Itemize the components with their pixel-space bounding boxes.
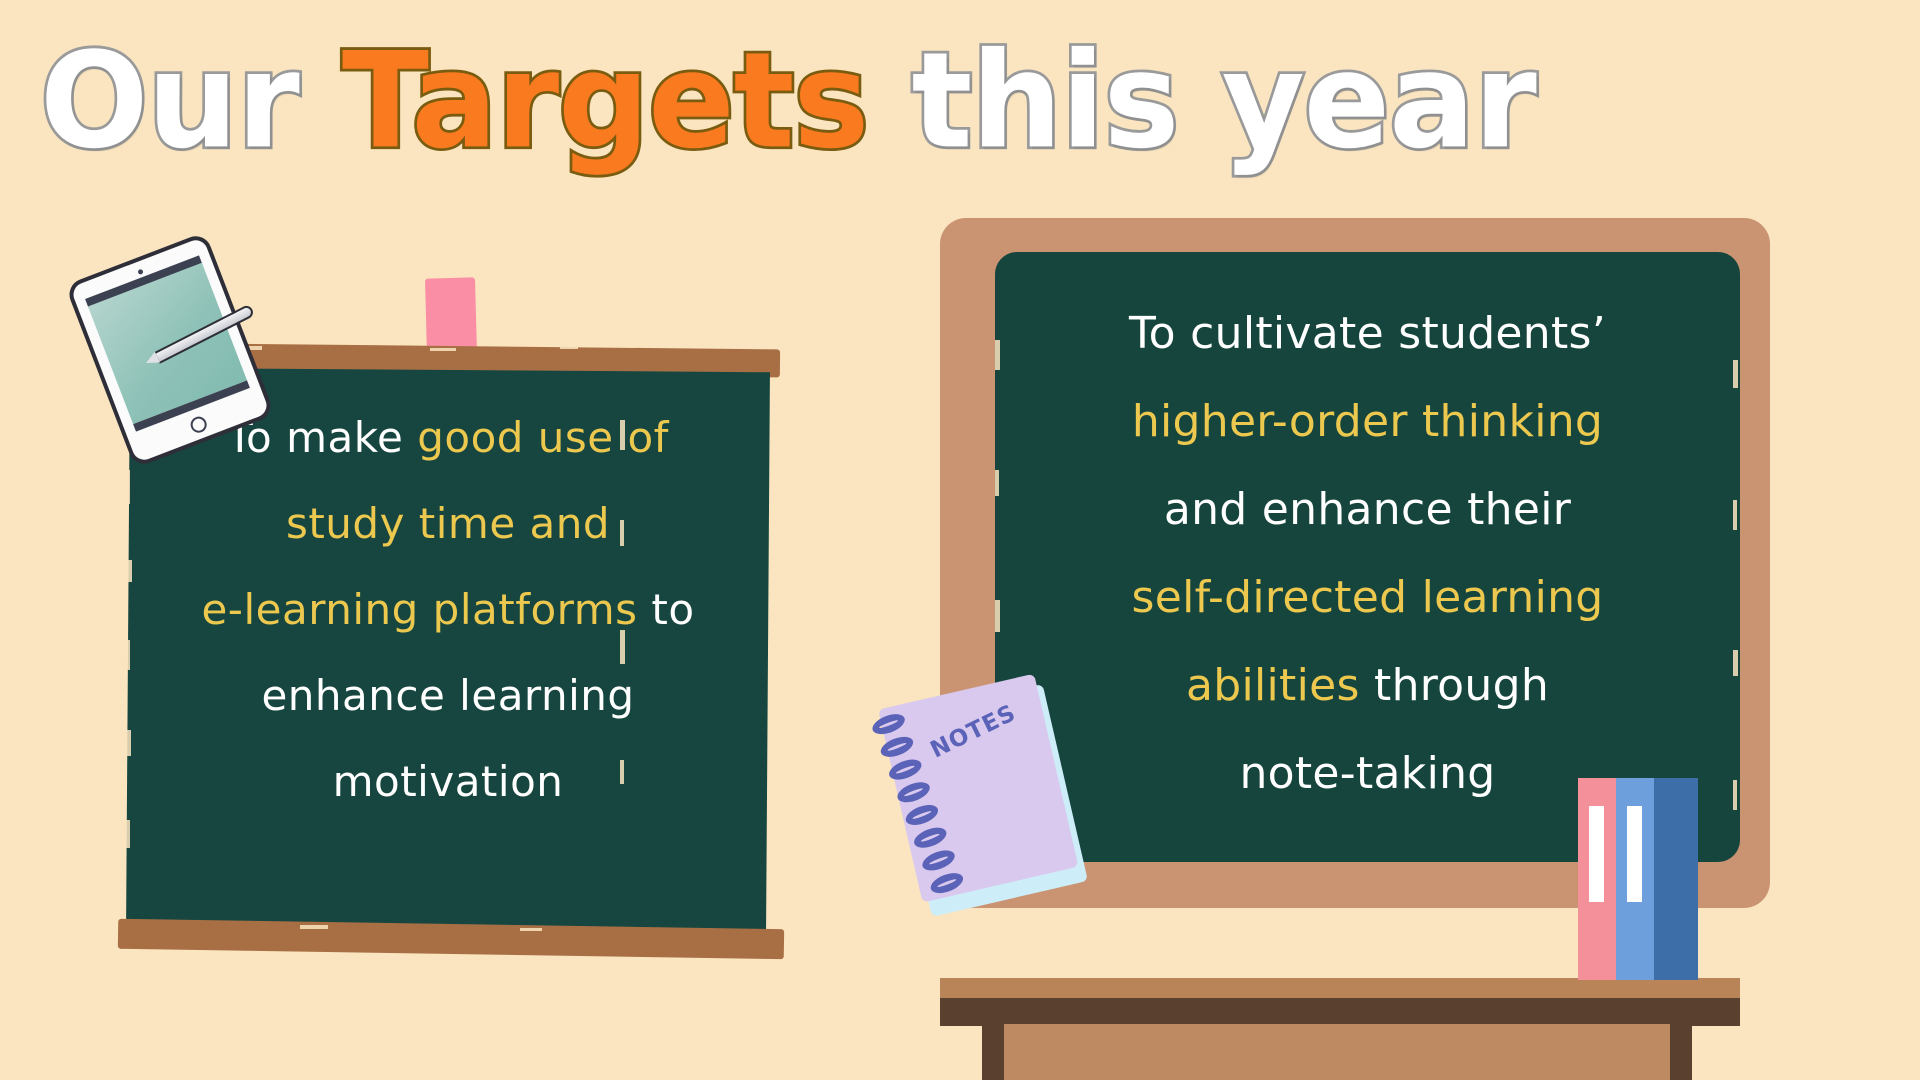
book-stack — [1578, 778, 1698, 980]
chalk-edge-texture — [430, 348, 456, 351]
title-part-our: Our — [40, 23, 299, 178]
chalk-edge-texture — [300, 925, 328, 929]
board-text-highlight: e-learning platforms — [201, 585, 637, 634]
board-text-line: To cultivate students’ — [1010, 290, 1725, 378]
left-board-text: To make good use ofstudy time ande-learn… — [136, 395, 760, 825]
chalk-edge-texture — [1733, 360, 1738, 388]
title-space-1 — [299, 23, 342, 178]
page-title: Our Targets this year — [40, 22, 1703, 179]
tablet-home-button-icon — [188, 414, 209, 435]
wooden-desk — [940, 978, 1740, 1080]
board-text-plain: enhance learning — [261, 671, 634, 720]
desk-front-edge — [940, 998, 1740, 1026]
board-text-line: e-learning platforms to — [136, 567, 760, 653]
desk-panel — [1004, 1024, 1672, 1080]
board-text-line: abilities through — [1010, 642, 1725, 730]
hanger-pink-tab — [425, 277, 477, 356]
desk-leg-left — [982, 1024, 1004, 1080]
chalk-edge-texture — [1733, 500, 1737, 530]
chalk-edge-texture — [520, 928, 542, 931]
chalk-edge-texture — [1733, 780, 1737, 810]
book-blue — [1616, 778, 1654, 980]
board-text-line: study time and — [136, 481, 760, 567]
board-text-plain: motivation — [333, 757, 564, 806]
book-pink — [1578, 778, 1616, 980]
board-text-highlight: good use of — [417, 413, 669, 462]
title-part-targets: Targets — [342, 23, 868, 178]
book-pink-label — [1589, 806, 1604, 902]
board-text-plain: and enhance their — [1164, 484, 1571, 535]
chalk-edge-texture — [1733, 650, 1738, 676]
chalk-edge-texture — [126, 820, 130, 848]
board-text-highlight: higher-order thinking — [1132, 396, 1603, 447]
chalk-edge-texture — [126, 730, 131, 756]
book-blue-label — [1627, 806, 1642, 902]
chalk-edge-texture — [995, 600, 1000, 632]
slide-canvas: Our Targets this year To make good use o… — [0, 0, 1920, 1080]
tablet-screen — [88, 263, 247, 424]
chalk-edge-texture — [995, 340, 1000, 370]
board-text-plain: through — [1360, 660, 1549, 711]
board-text-line: self-directed learning — [1010, 554, 1725, 642]
title-space-2 — [868, 23, 911, 178]
right-board-text: To cultivate students’higher-order think… — [1010, 290, 1725, 818]
board-text-line: enhance learning — [136, 653, 760, 739]
board-text-line: and enhance their — [1010, 466, 1725, 554]
title-part-this-year: this year — [912, 23, 1536, 178]
desk-top-surface — [940, 978, 1740, 1000]
board-text-line: higher-order thinking — [1010, 378, 1725, 466]
board-text-highlight: abilities — [1186, 660, 1360, 711]
chalk-edge-texture — [560, 345, 578, 349]
chalk-edge-texture — [126, 470, 130, 504]
board-text-plain: to — [638, 585, 695, 634]
board-text-line: motivation — [136, 739, 760, 825]
board-text-plain: note-taking — [1239, 748, 1495, 799]
desk-leg-right — [1670, 1024, 1692, 1080]
tablet-camera-icon — [137, 269, 143, 275]
chalk-edge-texture — [995, 470, 999, 496]
board-text-highlight: self-directed learning — [1131, 572, 1603, 623]
chalk-edge-texture — [126, 560, 132, 582]
book-navy — [1654, 778, 1698, 980]
chalk-edge-texture — [126, 640, 130, 670]
board-text-highlight: study time and — [286, 499, 610, 548]
board-text-plain: To cultivate students’ — [1129, 308, 1606, 359]
